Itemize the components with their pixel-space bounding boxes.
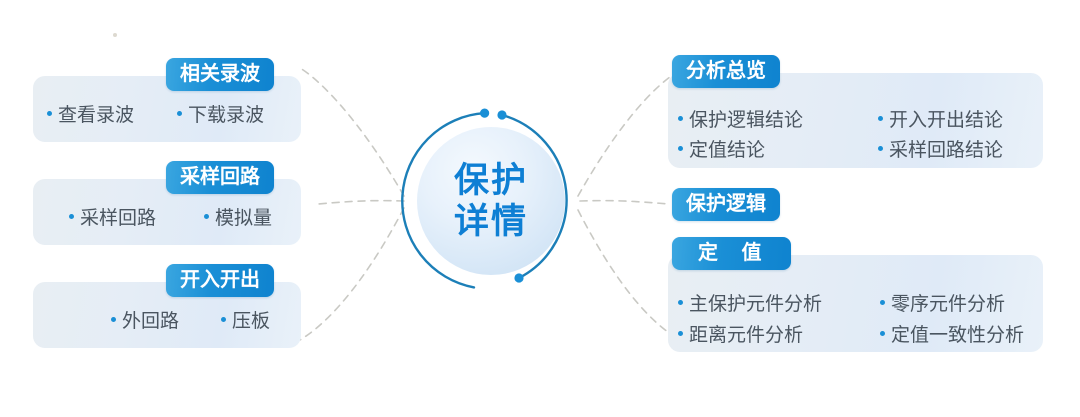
group-badge[interactable]: 定 值 xyxy=(672,237,791,270)
group-items: 主保护元件分析 零序元件分析 距离元件分析 定值一致性分析 xyxy=(678,287,1043,349)
connector-left-top xyxy=(300,68,404,196)
bullet-dot xyxy=(678,116,683,121)
list-item-label: 模拟量 xyxy=(215,203,272,230)
group-items: 采样回路 模拟量 xyxy=(69,203,299,230)
list-item[interactable]: 查看录波 xyxy=(47,100,177,127)
list-item-label: 保护逻辑结论 xyxy=(689,105,803,132)
list-item-label: 距离元件分析 xyxy=(689,320,803,347)
list-item-label: 采样回路结论 xyxy=(889,135,1003,162)
list-item[interactable]: 开入开出结论 xyxy=(878,103,1038,133)
mindmap-diagram: 保护 详情 相关录波 查看录波 下载录波 采样回路 采样回路 xyxy=(0,0,1080,417)
list-item-label: 零序元件分析 xyxy=(891,289,1005,316)
hub-title-line1: 保护 xyxy=(454,160,528,201)
list-item[interactable]: 定值一致性分析 xyxy=(880,318,1040,349)
list-item-label: 外回路 xyxy=(122,306,179,333)
group-analysis-overview[interactable]: 分析总览 保护逻辑结论 开入开出结论 定值结论 采样回路结论 xyxy=(668,55,1043,168)
group-digital-input-output[interactable]: 开入开出 外回路 压板 xyxy=(33,264,301,348)
bullet-dot xyxy=(878,146,883,151)
list-item-label: 定值结论 xyxy=(689,135,765,162)
center-hub[interactable]: 保护 详情 xyxy=(398,108,584,294)
bullet-dot xyxy=(221,317,226,322)
list-item-label: 采样回路 xyxy=(80,203,156,230)
group-badge[interactable]: 保护逻辑 xyxy=(672,188,780,221)
group-badge[interactable]: 分析总览 xyxy=(672,55,780,88)
group-setting-value[interactable]: 定 值 主保护元件分析 零序元件分析 距离元件分析 定值一致性分析 xyxy=(668,237,1043,352)
list-item[interactable]: 下载录波 xyxy=(177,100,287,127)
group-badge[interactable]: 相关录波 xyxy=(166,58,274,91)
group-items: 外回路 压板 xyxy=(111,306,301,333)
list-item-label: 主保护元件分析 xyxy=(689,289,822,316)
list-item[interactable]: 零序元件分析 xyxy=(880,287,1040,318)
list-item[interactable]: 采样回路结论 xyxy=(878,133,1038,163)
bullet-dot xyxy=(678,300,683,305)
decorative-speck xyxy=(113,33,117,37)
list-item-label: 开入开出结论 xyxy=(889,105,1003,132)
group-badge[interactable]: 采样回路 xyxy=(166,161,274,194)
group-sampling-circuit[interactable]: 采样回路 采样回路 模拟量 xyxy=(33,161,301,245)
connector-left-bottom xyxy=(300,208,404,340)
hub-title: 保护 详情 xyxy=(398,108,584,294)
list-item[interactable]: 采样回路 xyxy=(69,203,204,230)
list-item[interactable]: 模拟量 xyxy=(204,203,294,230)
bullet-dot xyxy=(878,116,883,121)
list-item-label: 定值一致性分析 xyxy=(891,320,1024,347)
list-item[interactable]: 定值结论 xyxy=(678,133,878,163)
group-related-wave-recording[interactable]: 相关录波 查看录波 下载录波 xyxy=(33,58,301,142)
list-item[interactable]: 距离元件分析 xyxy=(678,318,880,349)
list-item[interactable]: 主保护元件分析 xyxy=(678,287,880,318)
bullet-dot xyxy=(880,300,885,305)
list-item[interactable]: 外回路 xyxy=(111,306,221,333)
list-item[interactable]: 压板 xyxy=(221,306,291,333)
bullet-dot xyxy=(111,317,116,322)
group-items: 保护逻辑结论 开入开出结论 定值结论 采样回路结论 xyxy=(678,103,1038,163)
group-protection-logic[interactable]: 保护逻辑 xyxy=(668,188,798,222)
hub-title-line2: 详情 xyxy=(454,201,528,242)
bullet-dot xyxy=(678,146,683,151)
bullet-dot xyxy=(177,111,182,116)
list-item-label: 压板 xyxy=(232,306,270,333)
list-item-label: 查看录波 xyxy=(58,100,134,127)
bullet-dot xyxy=(69,214,74,219)
connector-left-mid xyxy=(318,201,404,204)
bullet-dot xyxy=(678,331,683,336)
list-item[interactable]: 保护逻辑结论 xyxy=(678,103,878,133)
list-item-label: 下载录波 xyxy=(188,100,264,127)
bullet-dot xyxy=(47,111,52,116)
bullet-dot xyxy=(880,331,885,336)
bullet-dot xyxy=(204,214,209,219)
connector-right-mid xyxy=(580,201,668,204)
group-items: 查看录波 下载录波 xyxy=(47,100,287,127)
group-badge[interactable]: 开入开出 xyxy=(166,264,274,297)
